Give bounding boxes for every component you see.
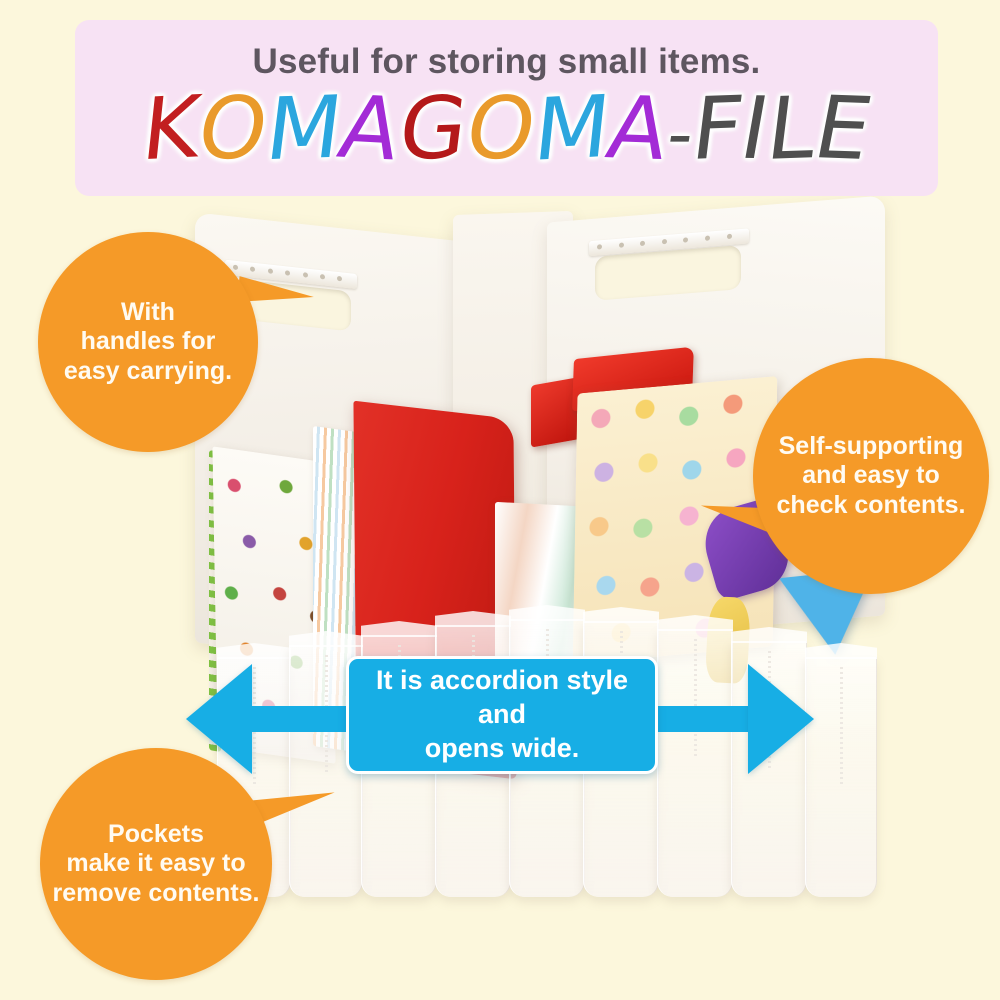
arrow-banner-label: It is accordion style and opens wide. <box>346 656 658 774</box>
callout-self-support-line3: check contents. <box>777 491 966 519</box>
callout-handles: With handles for easy carrying. <box>38 232 258 452</box>
arrow-left-icon <box>186 664 252 774</box>
arrow-banner-line2: opens wide. <box>425 733 580 763</box>
callout-pockets-line3: remove contents. <box>52 879 259 907</box>
callout-self-support: Self-supporting and easy to check conten… <box>753 358 989 594</box>
callout-self-support-line1: Self-supporting <box>779 432 964 460</box>
advertisement-canvas: Useful for storing small items. KOMAGOMA… <box>0 0 1000 1000</box>
pocket <box>805 657 877 897</box>
callout-handles-line3: easy carrying. <box>64 357 232 385</box>
wordmark-letter: M <box>530 84 614 174</box>
arrow-banner-line1: It is accordion style and <box>376 665 628 729</box>
arrow-right-icon <box>748 664 814 774</box>
wordmark-letter: O <box>459 85 543 173</box>
callout-pockets-line2: make it easy to <box>66 849 245 877</box>
header-banner: Useful for storing small items. KOMAGOMA… <box>75 20 938 196</box>
subtitle-text: Useful for storing small items. <box>75 42 938 82</box>
callout-self-support-text: Self-supporting and easy to check conten… <box>767 432 976 521</box>
callout-pockets: Pockets make it easy to remove contents. <box>40 748 272 980</box>
callout-pockets-line1: Pockets <box>108 820 204 848</box>
arrow-banner-text: It is accordion style and opens wide. <box>349 664 655 765</box>
accordion-width-arrow-banner: It is accordion style and opens wide. <box>186 648 814 780</box>
brand-wordmark: KOMAGOMA-FILE <box>75 86 938 172</box>
callout-pockets-text: Pockets make it easy to remove contents. <box>42 820 269 909</box>
callout-handles-line1: With <box>121 298 175 326</box>
callout-self-support-line2: and easy to <box>802 461 940 489</box>
callout-handles-line2: handles for <box>81 327 216 355</box>
callout-handles-text: With handles for easy carrying. <box>54 298 242 387</box>
